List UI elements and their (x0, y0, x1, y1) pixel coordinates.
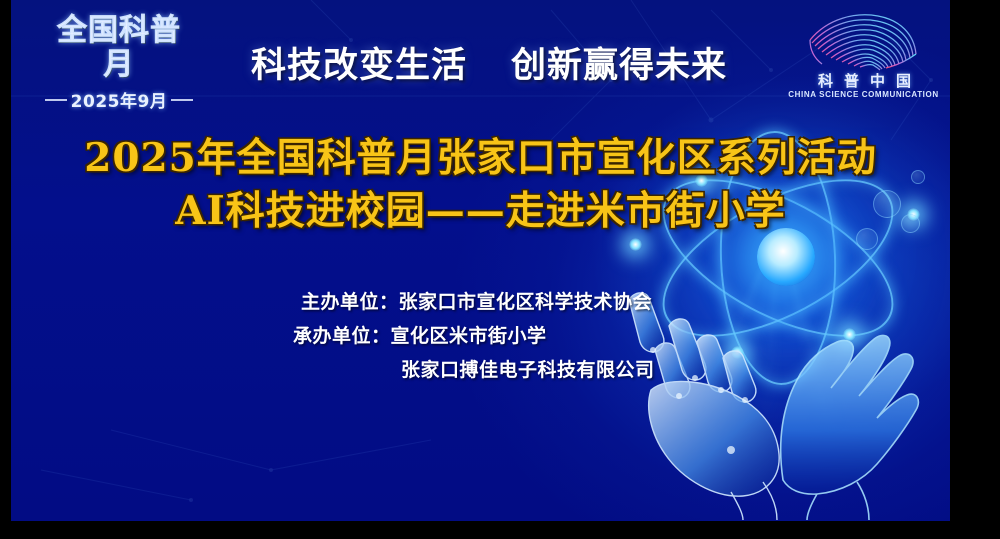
brand-logo-en: CHINA SCIENCE COMMUNICATION (786, 90, 941, 99)
event-banner: 全国科普月 2025年9月 科技改变生活 创新赢得未来 (11, 0, 950, 521)
slogan-part-2: 创新赢得未来 (511, 37, 727, 88)
slogan-part-1: 科技改变生活 (251, 37, 467, 88)
brand-logo-cn: 科普中国 (792, 70, 937, 91)
campaign-logo-name: 全国科普月 (45, 14, 193, 82)
atom-electron (629, 238, 642, 251)
brand-wing-icon (804, 10, 924, 72)
event-title-line-1: 2025年全国科普月张家口市宣化区系列活动 (11, 132, 950, 185)
organizer-line: 主办单位：张家口市宣化区科学技术协会 (11, 285, 950, 319)
campaign-logo: 全国科普月 2025年9月 (45, 14, 193, 88)
rule-right (171, 99, 193, 101)
rule-left (45, 99, 67, 101)
organizer-line: 张家口搏佳电子科技有限公司 (11, 353, 950, 387)
organizer-list: 主办单位：张家口市宣化区科学技术协会 承办单位：宣化区米市街小学 张家口搏佳电子… (11, 285, 950, 387)
campaign-logo-date-row: 2025年9月 (45, 87, 193, 112)
banner-header: 全国科普月 2025年9月 科技改变生活 创新赢得未来 (11, 0, 950, 108)
campaign-logo-date: 2025年9月 (71, 87, 168, 112)
event-title-line-2: AI科技进校园——走进米市街小学 (11, 185, 950, 238)
event-title: 2025年全国科普月张家口市宣化区系列活动 AI科技进校园——走进米市街小学 (11, 132, 950, 238)
organizer-line: 承办单位：宣化区米市街小学 (11, 319, 950, 353)
slogan: 科技改变生活 创新赢得未来 (209, 38, 769, 86)
brand-logo: 科普中国 CHINA SCIENCE COMMUNICATION (786, 8, 941, 104)
screenshot-root: 全国科普月 2025年9月 科技改变生活 创新赢得未来 (0, 0, 1000, 539)
